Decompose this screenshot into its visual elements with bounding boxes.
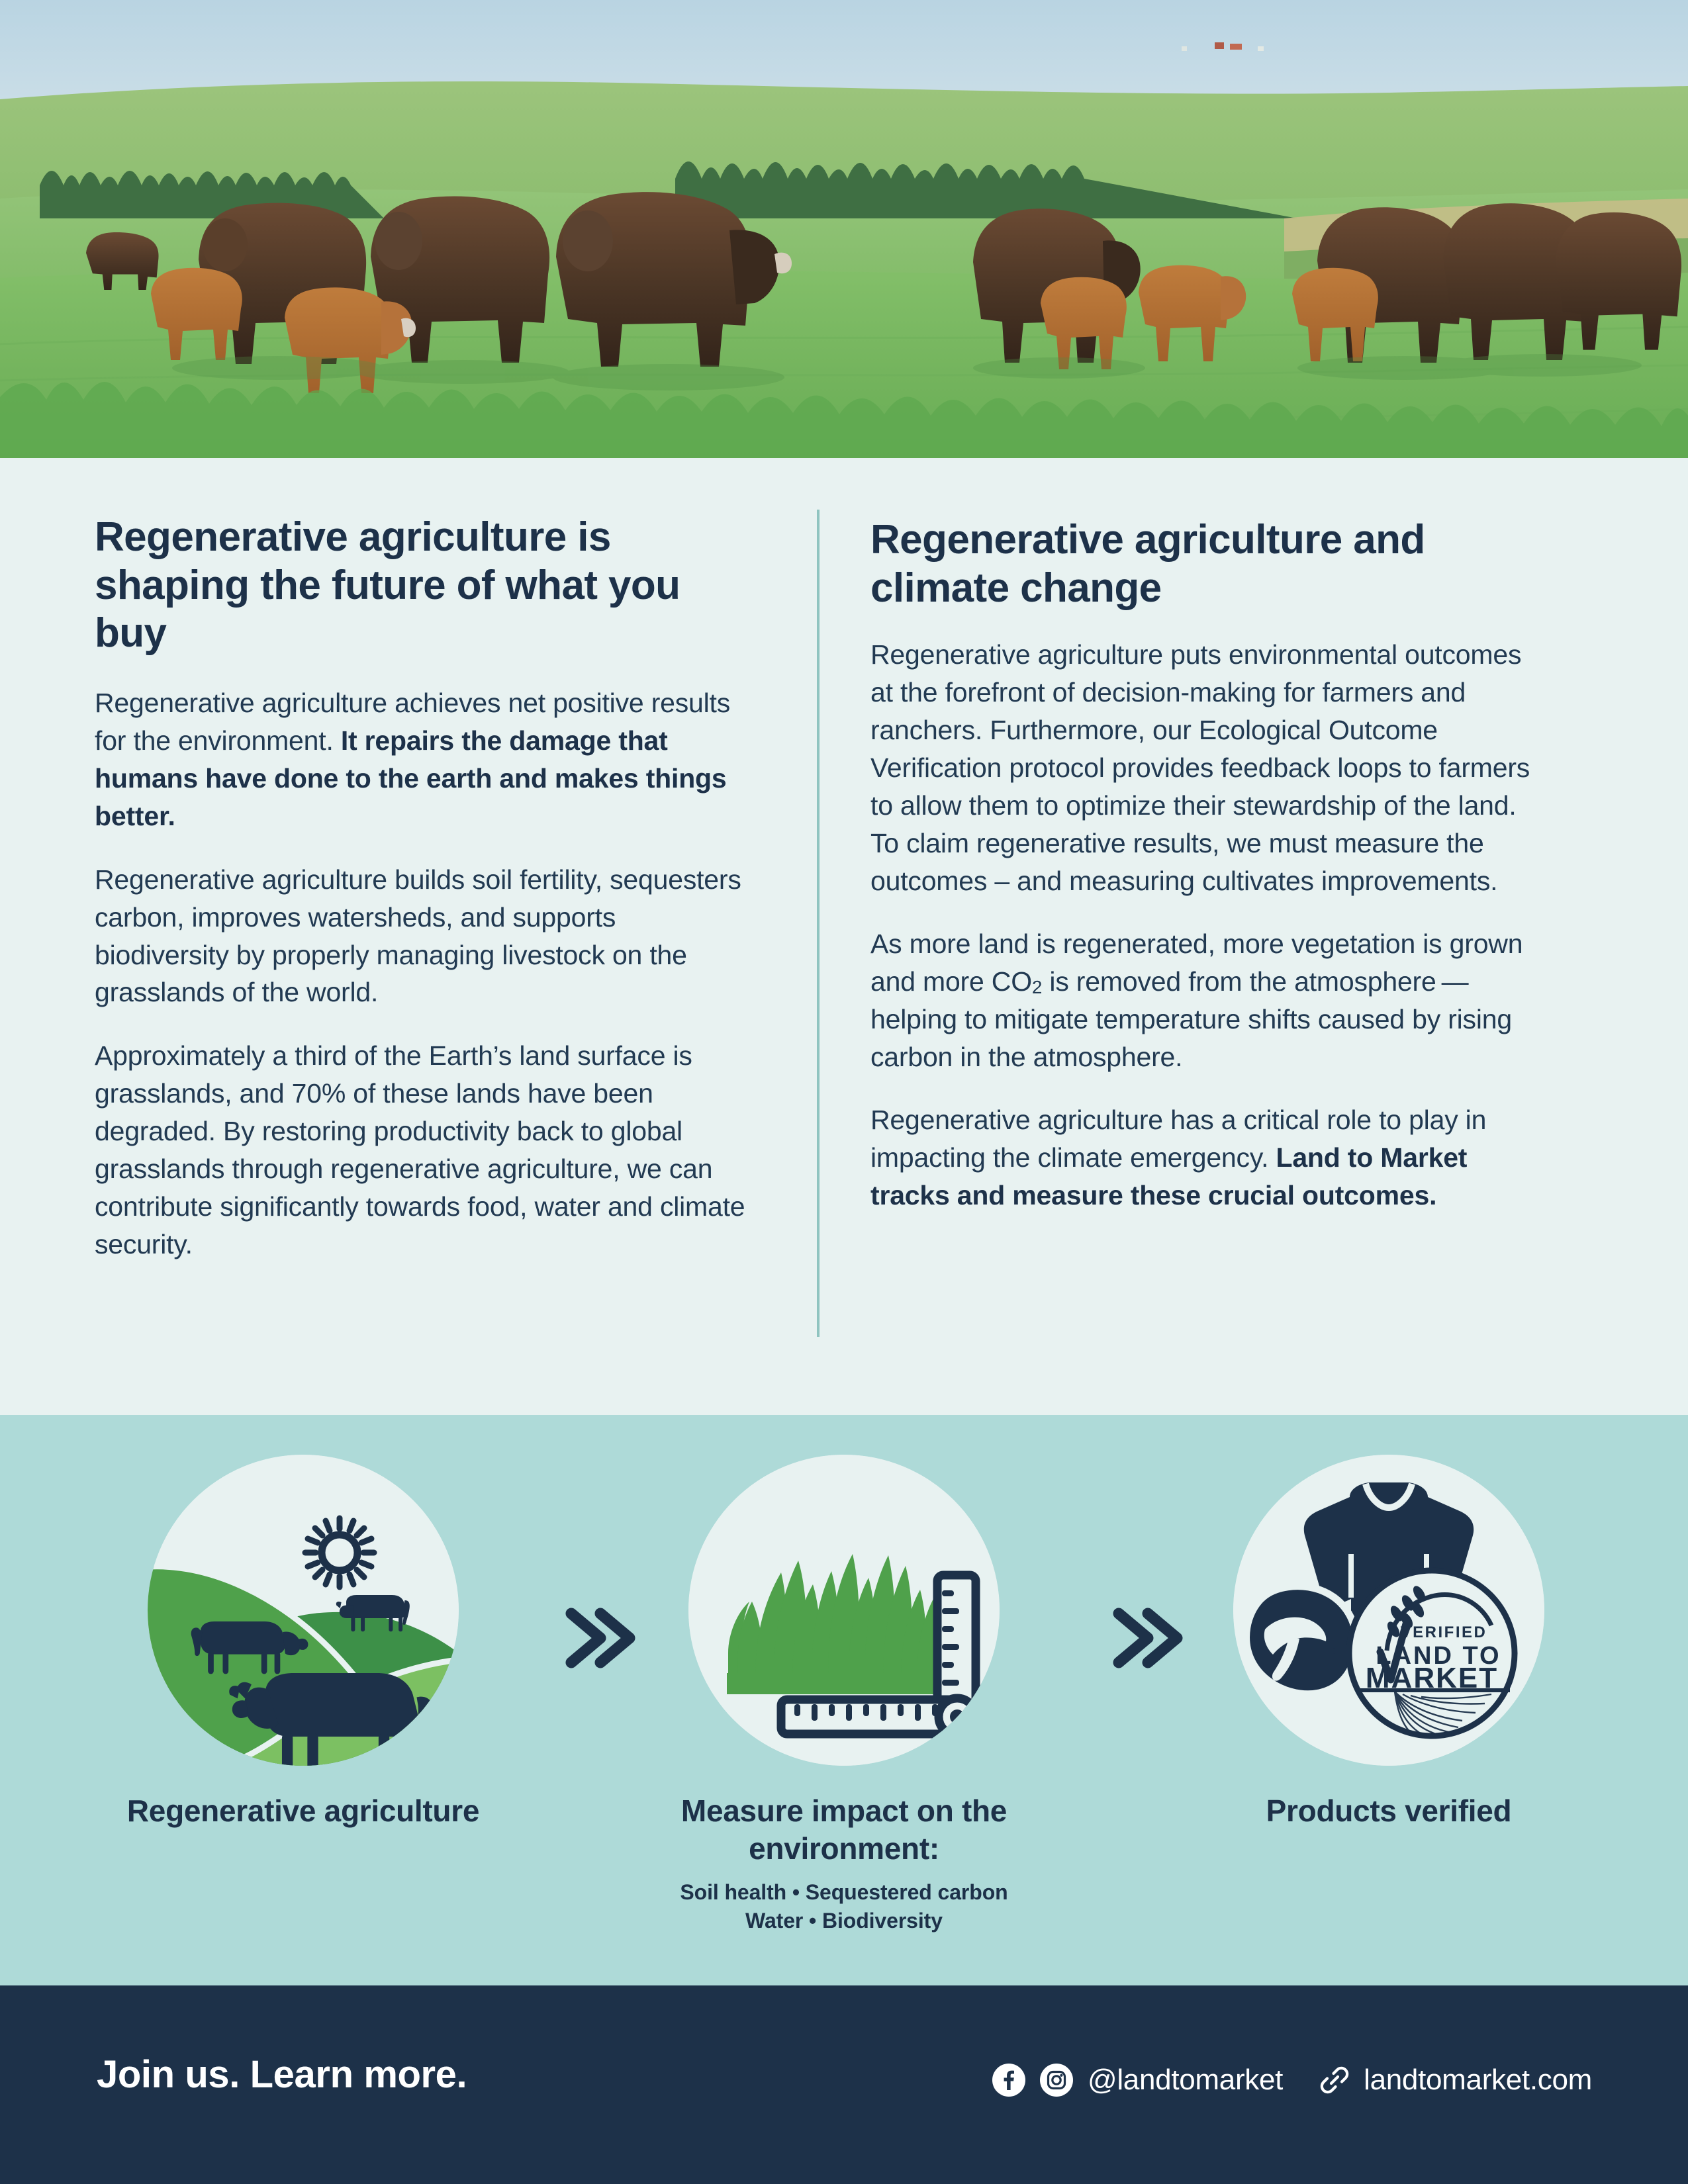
step-3-label: Products verified <box>1203 1792 1574 1830</box>
hero-image <box>0 0 1688 458</box>
process-steps: Regenerative agriculture <box>0 1415 1688 1985</box>
step-1-label: Regenerative agriculture <box>118 1792 489 1830</box>
step-measure-impact: Measure impact on the environment: Soil … <box>659 1455 1029 1935</box>
column-divider <box>817 510 820 1337</box>
instagram-icon[interactable] <box>1040 2064 1073 2097</box>
link-glyph <box>1319 2064 1350 2096</box>
footer-social-row: @landtomarket landtomarket.com <box>992 2064 1592 2097</box>
footer-content: Join us. Learn more. @land <box>0 1985 1688 2184</box>
facebook-icon[interactable] <box>992 2064 1025 2097</box>
double-chevron-right-icon-2 <box>1107 1602 1186 1674</box>
step-2-label: Measure impact on the environment: <box>659 1792 1029 1868</box>
grass-ruler-graphic <box>688 1455 1000 1766</box>
grass-ruler-icon <box>688 1455 1000 1766</box>
right-p2-subscript: 2 <box>1032 977 1042 997</box>
pasture-cattle-sun-icon <box>148 1455 459 1766</box>
right-paragraph-3: Regenerative agriculture has a critical … <box>870 1101 1542 1214</box>
verified-products-graphic: VERIFIED LAND TO MARKET <box>1233 1455 1544 1766</box>
instagram-glyph <box>1040 2064 1073 2097</box>
step-2-sublabel: Soil health • Sequestered carbon Water •… <box>659 1878 1029 1935</box>
double-chevron-right-graphic-2 <box>1107 1602 1186 1674</box>
right-paragraph-2: As more land is regenerated, more vegeta… <box>870 925 1542 1076</box>
badge-verified-text: VERIFIED <box>1401 1623 1487 1641</box>
pasture-cattle-sun-graphic <box>148 1455 459 1766</box>
bison-herd-photo <box>0 0 1688 458</box>
footer-bar: Join us. Learn more. @land <box>0 1985 1688 2184</box>
double-chevron-right-graphic <box>559 1602 639 1674</box>
social-handle[interactable]: @landtomarket <box>1088 2066 1283 2095</box>
article-section: Regenerative agriculture is shaping the … <box>0 458 1688 1415</box>
infographic-section: Regenerative agriculture <box>0 1415 1688 1985</box>
step-products-verified: VERIFIED LAND TO MARKET <box>1203 1455 1574 1830</box>
land-to-market-badge: VERIFIED LAND TO MARKET <box>1349 1570 1515 1737</box>
right-column: Regenerative agriculture and climate cha… <box>870 458 1542 1214</box>
double-chevron-right-icon <box>559 1602 639 1674</box>
left-column: Regenerative agriculture is shaping the … <box>95 458 757 1263</box>
left-paragraph-3: Approximately a third of the Earth’s lan… <box>95 1037 757 1263</box>
steak-icon <box>1246 1586 1356 1694</box>
poster-page: Regenerative agriculture is shaping the … <box>0 0 1688 2184</box>
verified-products-icon: VERIFIED LAND TO MARKET <box>1233 1455 1544 1766</box>
right-paragraph-1: Regenerative agriculture puts environmen… <box>870 636 1542 900</box>
website-url[interactable]: landtomarket.com <box>1364 2066 1592 2095</box>
left-paragraph-2: Regenerative agriculture builds soil fer… <box>95 861 757 1012</box>
right-column-heading: Regenerative agriculture and climate cha… <box>870 458 1542 612</box>
ruler-horizontal <box>781 1698 976 1735</box>
link-icon[interactable] <box>1319 2064 1350 2096</box>
step-regenerative-agriculture: Regenerative agriculture <box>118 1455 489 1830</box>
footer-title: Join us. Learn more. <box>97 2056 467 2094</box>
left-paragraph-1: Regenerative agriculture achieves net po… <box>95 684 757 835</box>
facebook-glyph <box>992 2064 1025 2097</box>
left-column-heading: Regenerative agriculture is shaping the … <box>95 458 757 658</box>
